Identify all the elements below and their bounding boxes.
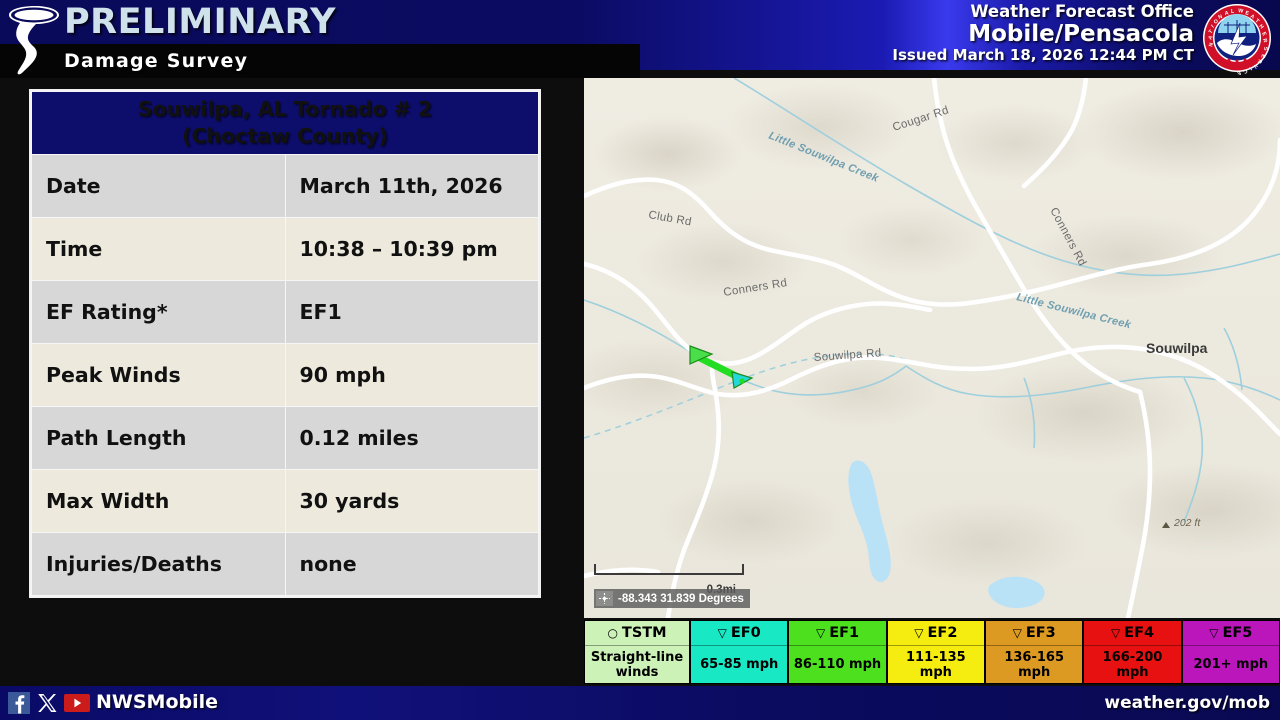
legend-name-ef1: EF1 bbox=[829, 625, 859, 641]
legend-range-ef0: 65-85 mph bbox=[691, 646, 787, 683]
tstm-circle-icon: ○ bbox=[607, 627, 617, 639]
creek-label-upper: Little Souwilpa Creek bbox=[767, 130, 881, 185]
legend-top-tstm: ○ TSTM bbox=[585, 621, 689, 646]
table-row-path-length: Path Length 0.12 miles bbox=[32, 407, 539, 470]
legend-name-ef5: EF5 bbox=[1223, 625, 1253, 641]
legend-cell-ef3[interactable]: ▽ EF3 136-165 mph bbox=[985, 620, 1083, 684]
row-label-peak-winds: Peak Winds bbox=[32, 344, 286, 407]
youtube-icon[interactable] bbox=[64, 694, 90, 712]
preliminary-title: PRELIMINARY bbox=[64, 2, 336, 42]
ef2-triangle-icon: ▽ bbox=[914, 627, 923, 639]
intermittent-stream bbox=[584, 354, 920, 438]
map-scale-bar bbox=[594, 562, 742, 582]
svg-text:W: W bbox=[1238, 8, 1244, 15]
damage-survey-subtitle: Damage Survey bbox=[64, 50, 248, 72]
tornado-damage-track[interactable] bbox=[690, 346, 752, 388]
nws-seal-logo: N A T I O N A L W E A T H E R S E R V I bbox=[1200, 3, 1274, 75]
issued-timestamp: Issued March 18, 2026 12:44 PM CT bbox=[892, 46, 1194, 65]
legend-range-ef2: 111-135 mph bbox=[888, 646, 984, 683]
legend-top-ef4: ▽ EF4 bbox=[1084, 621, 1180, 646]
legend-cell-ef5[interactable]: ▽ EF5 201+ mph bbox=[1182, 620, 1280, 684]
row-label-time: Time bbox=[32, 218, 286, 281]
ef5-triangle-icon: ▽ bbox=[1209, 627, 1218, 639]
road-label-souwilpa-rd: Souwilpa Rd bbox=[813, 347, 882, 364]
table-title-cell: Souwilpa, AL Tornado # 2 (Choctaw County… bbox=[32, 92, 539, 155]
header-black-band-right bbox=[640, 70, 1280, 78]
legend-name-ef2: EF2 bbox=[928, 625, 958, 641]
legend-cell-ef2[interactable]: ▽ EF2 111-135 mph bbox=[887, 620, 985, 684]
coordinate-text: -88.343 31.839 Degrees bbox=[618, 593, 744, 605]
map-road-labels: Club Rd Conners Rd Cougar Rd Conners Rd … bbox=[647, 104, 1088, 364]
legend-name-ef3: EF3 bbox=[1026, 625, 1056, 641]
facebook-icon[interactable] bbox=[8, 692, 30, 714]
office-name: Mobile/Pensacola bbox=[892, 21, 1194, 47]
footer-bar: NWSMobile weather.gov/mob bbox=[0, 686, 1280, 720]
table-row-ef-rating: EF Rating* EF1 bbox=[32, 281, 539, 344]
damage-track-map[interactable]: Club Rd Conners Rd Cougar Rd Conners Rd … bbox=[584, 78, 1280, 618]
table-row-time: Time 10:38 – 10:39 pm bbox=[32, 218, 539, 281]
table-title-row: Souwilpa, AL Tornado # 2 (Choctaw County… bbox=[32, 92, 539, 155]
legend-range-ef5: 201+ mph bbox=[1183, 646, 1279, 683]
legend-top-ef5: ▽ EF5 bbox=[1183, 621, 1279, 646]
stream-network bbox=[584, 78, 1280, 522]
crosshair-icon bbox=[596, 591, 613, 606]
damage-survey-graphic: PRELIMINARY Damage Survey Weather Foreca… bbox=[0, 0, 1280, 720]
water-bodies bbox=[848, 461, 1044, 608]
wfo-label: Weather Forecast Office bbox=[892, 2, 1194, 22]
row-value-time: 10:38 – 10:39 pm bbox=[285, 218, 539, 281]
map-creek-labels: Little Souwilpa Creek Little Souwilpa Cr… bbox=[767, 130, 1133, 332]
legend-range-tstm: Straight-line winds bbox=[585, 646, 689, 683]
survey-table: Souwilpa, AL Tornado # 2 (Choctaw County… bbox=[31, 91, 539, 596]
legend-top-ef2: ▽ EF2 bbox=[888, 621, 984, 646]
x-twitter-icon[interactable] bbox=[36, 692, 58, 714]
header-banner: PRELIMINARY Damage Survey Weather Foreca… bbox=[0, 0, 1280, 78]
road-label-club-rd: Club Rd bbox=[647, 209, 692, 228]
table-row-injuries-deaths: Injuries/Deaths none bbox=[32, 533, 539, 596]
row-label-max-width: Max Width bbox=[32, 470, 286, 533]
creek-label-lower: Little Souwilpa Creek bbox=[1015, 291, 1133, 331]
row-label-injuries-deaths: Injuries/Deaths bbox=[32, 533, 286, 596]
legend-cell-ef4[interactable]: ▽ EF4 166-200 mph bbox=[1083, 620, 1181, 684]
legend-range-ef3: 136-165 mph bbox=[986, 646, 1082, 683]
table-row-date: Date March 11th, 2026 bbox=[32, 155, 539, 218]
road-label-conners-rd-east: Conners Rd bbox=[1047, 206, 1088, 268]
map-coordinate-readout: -88.343 31.839 Degrees bbox=[594, 589, 750, 608]
legend-name-tstm: TSTM bbox=[622, 625, 667, 641]
office-info: Weather Forecast Office Mobile/Pensacola… bbox=[892, 2, 1194, 65]
table-row-peak-winds: Peak Winds 90 mph bbox=[32, 344, 539, 407]
tornado-title-line2: (Choctaw County) bbox=[182, 124, 388, 148]
map-vector-layer: Club Rd Conners Rd Cougar Rd Conners Rd … bbox=[584, 78, 1280, 618]
row-value-ef-rating: EF1 bbox=[285, 281, 539, 344]
survey-data-table: Souwilpa, AL Tornado # 2 (Choctaw County… bbox=[29, 89, 541, 598]
row-value-injuries-deaths: none bbox=[285, 533, 539, 596]
town-label-souwilpa: Souwilpa bbox=[1146, 340, 1208, 356]
table-row-max-width: Max Width 30 yards bbox=[32, 470, 539, 533]
elevation-marker: 202 ft bbox=[1162, 517, 1201, 529]
legend-top-ef1: ▽ EF1 bbox=[789, 621, 885, 646]
row-value-path-length: 0.12 miles bbox=[285, 407, 539, 470]
legend-name-ef4: EF4 bbox=[1124, 625, 1154, 641]
ef4-triangle-icon: ▽ bbox=[1111, 627, 1120, 639]
row-label-path-length: Path Length bbox=[32, 407, 286, 470]
legend-range-ef1: 86-110 mph bbox=[789, 646, 885, 683]
legend-cell-tstm[interactable]: ○ TSTM Straight-line winds bbox=[584, 620, 690, 684]
road-label-conners-rd-west: Conners Rd bbox=[723, 277, 788, 299]
row-label-date: Date bbox=[32, 155, 286, 218]
ef0-triangle-icon: ▽ bbox=[718, 627, 727, 639]
ef-scale-legend: ○ TSTM Straight-line winds ▽ EF0 65-85 m… bbox=[584, 620, 1280, 684]
elevation-label-202ft: 202 ft bbox=[1173, 517, 1201, 529]
legend-top-ef0: ▽ EF0 bbox=[691, 621, 787, 646]
row-value-peak-winds: 90 mph bbox=[285, 344, 539, 407]
legend-name-ef0: EF0 bbox=[731, 625, 761, 641]
legend-range-ef4: 166-200 mph bbox=[1084, 646, 1180, 683]
social-handle[interactable]: NWSMobile bbox=[96, 691, 218, 713]
tornado-funnel-icon bbox=[2, 2, 62, 78]
ef1-triangle-icon: ▽ bbox=[816, 627, 825, 639]
weather-gov-url[interactable]: weather.gov/mob bbox=[1104, 693, 1270, 713]
legend-cell-ef1[interactable]: ▽ EF1 86-110 mph bbox=[788, 620, 886, 684]
row-label-ef-rating: EF Rating* bbox=[32, 281, 286, 344]
row-value-date: March 11th, 2026 bbox=[285, 155, 539, 218]
row-value-max-width: 30 yards bbox=[285, 470, 539, 533]
tornado-title-line1: Souwilpa, AL Tornado # 2 bbox=[138, 97, 432, 121]
legend-cell-ef0[interactable]: ▽ EF0 65-85 mph bbox=[690, 620, 788, 684]
ef3-triangle-icon: ▽ bbox=[1013, 627, 1022, 639]
legend-top-ef3: ▽ EF3 bbox=[986, 621, 1082, 646]
